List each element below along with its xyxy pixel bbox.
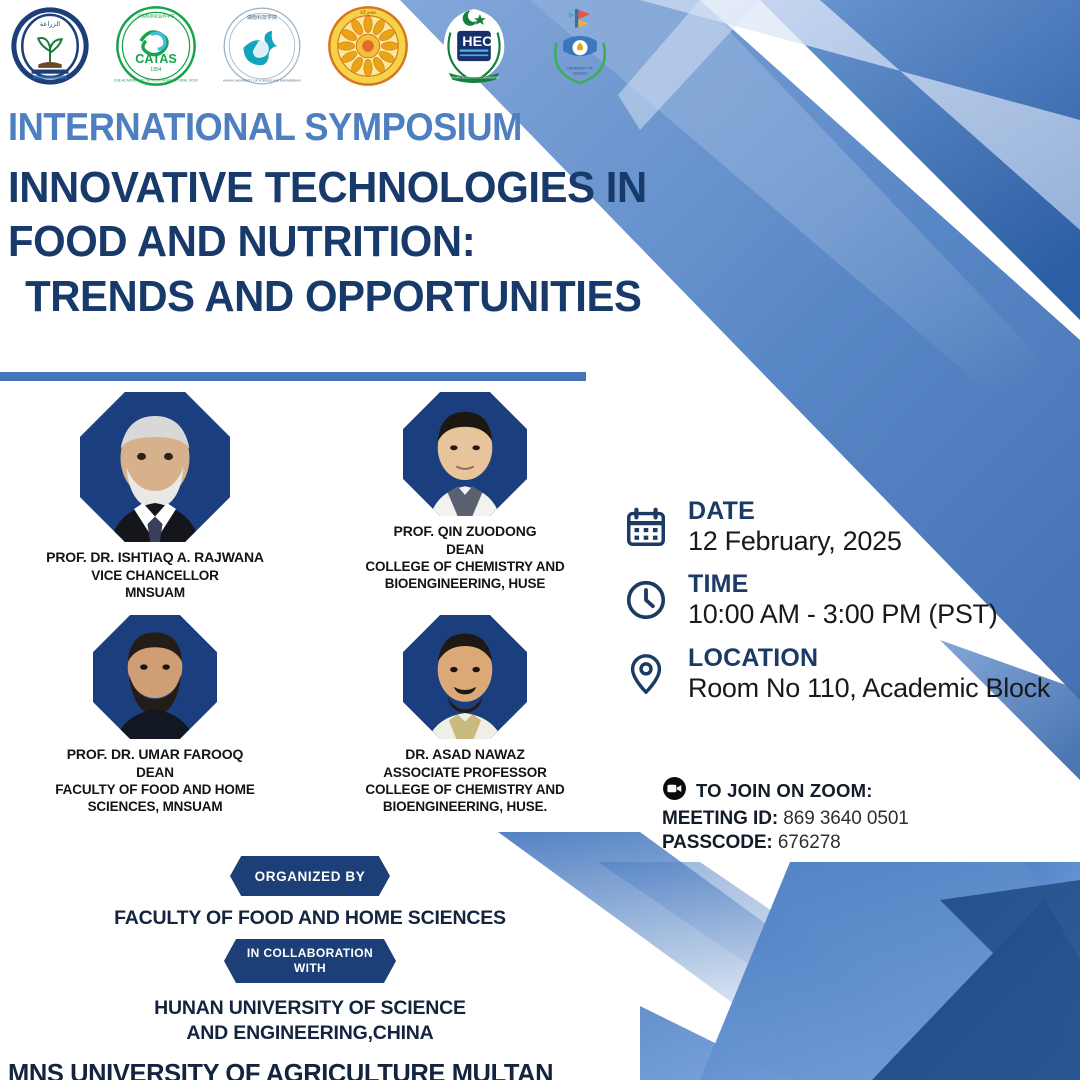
svg-text:湖南科技学院: 湖南科技学院: [247, 14, 277, 21]
speaker-role: DEAN: [55, 764, 254, 781]
zoom-heading: TO JOIN ON ZOOM:: [696, 780, 873, 802]
speaker-affiliation-2: SCIENCES, MNSUAM: [55, 798, 254, 815]
hec-pakistan-logo: HEC HIGHER EDUCATION COMMISSION: [432, 4, 516, 88]
date-label: DATE: [688, 498, 1080, 525]
speaker-name: PROF. DR. UMAR FAROOQ: [55, 746, 254, 764]
photo-ishtiaq-rajwana: [80, 392, 230, 542]
photo-qin-zuodong: [403, 392, 527, 516]
speaker-caption: PROF. QIN ZUODONG DEAN COLLEGE OF CHEMIS…: [365, 523, 564, 592]
speaker-caption: DR. ASAD NAWAZ ASSOCIATE PROFESSOR COLLE…: [365, 746, 564, 815]
speaker-name: PROF. DR. ISHTIAQ A. RAJWANA: [46, 549, 264, 567]
mns-university-of-agriculture-multan-logo: الزراعة: [8, 4, 92, 88]
host-university: MNS UNIVERSITY OF AGRICULTURE MULTAN: [0, 1060, 553, 1080]
speaker-caption: PROF. DR. UMAR FAROOQ DEAN FACULTY OF FO…: [55, 746, 254, 815]
svg-text:HUNAN UNIVERSITY OF SCIENCE AN: HUNAN UNIVERSITY OF SCIENCE AND ENGINEER…: [223, 78, 302, 82]
zoom-join-info: TO JOIN ON ZOOM: MEETING ID: 869 3640 05…: [662, 776, 1062, 854]
detail-time: TIME 10:00 AM - 3:00 PM (PST): [620, 571, 1080, 630]
organizer-name: FACULTY OF FOOD AND HOME SCIENCES: [114, 907, 506, 930]
collaborator-line-1: HUNAN UNIVERSITY OF SCIENCE: [154, 996, 466, 1021]
event-details: DATE 12 February, 2025 TIME 10:00 AM - 3…: [620, 498, 1080, 718]
speaker-name: DR. ASAD NAWAZ: [365, 746, 564, 764]
partner-university-logo: UNIVERSITY OF SCIENCE: [538, 4, 622, 88]
date-value: 12 February, 2025: [688, 526, 1080, 557]
clock-icon: [620, 571, 672, 623]
svg-text:1954: 1954: [150, 67, 161, 73]
location-label: LOCATION: [688, 645, 1080, 672]
catas-logo: CATAS 1954 中国热带农业科学院 CHINESE ACADEMY OF …: [114, 4, 198, 88]
title-line-3: TRENDS AND OPPORTUNITIES: [8, 270, 647, 325]
svg-text:CATAS: CATAS: [135, 52, 177, 66]
page-title: INNOVATIVE TECHNOLOGIES IN FOOD AND NUTR…: [8, 161, 647, 325]
speakers-row-1: PROF. DR. ISHTIAQ A. RAJWANA VICE CHANCE…: [0, 392, 620, 601]
svg-text:SCIENCE: SCIENCE: [573, 72, 589, 76]
svg-text:CHINESE ACADEMY OF TROPICAL AG: CHINESE ACADEMY OF TROPICAL AGRICULTURAL…: [114, 78, 198, 82]
speaker-name: PROF. QIN ZUODONG: [365, 523, 564, 541]
calendar-icon: [620, 498, 672, 550]
speaker-affiliation: MNSUAM: [46, 584, 264, 601]
sri-lanka-institute-logo: ම්රී ලංකා: [326, 4, 410, 88]
partner-logos: الزراعة CATAS 1954 中国热带农业科学院 CHINESE ACA…: [8, 4, 622, 88]
speaker-affiliation: COLLEGE OF CHEMISTRY AND: [365, 781, 564, 798]
passcode-label: PASSCODE:: [662, 832, 773, 853]
svg-text:中国热带农业科学院: 中国热带农业科学院: [137, 12, 176, 19]
speaker-role: VICE CHANCELLOR: [46, 567, 264, 584]
title-divider: [0, 372, 586, 381]
svg-text:HIGHER EDUCATION COMMISSION: HIGHER EDUCATION COMMISSION: [449, 76, 498, 80]
meeting-id-label: MEETING ID:: [662, 808, 778, 829]
passcode-value: 676278: [778, 832, 841, 853]
passcode-line: PASSCODE: 676278: [662, 832, 1062, 854]
symposium-kicker: INTERNATIONAL SYMPOSIUM: [8, 108, 633, 149]
speakers-row-2: PROF. DR. UMAR FAROOQ DEAN FACULTY OF FO…: [0, 615, 620, 815]
speaker-card: DR. ASAD NAWAZ ASSOCIATE PROFESSOR COLLE…: [310, 615, 620, 815]
event-poster: الزراعة CATAS 1954 中国热带农业科学院 CHINESE ACA…: [0, 0, 1080, 1080]
time-label: TIME: [688, 571, 1080, 598]
video-camera-icon: [662, 776, 687, 806]
collaborator-line-2: AND ENGINEERING,CHINA: [154, 1021, 466, 1046]
speaker-role: DEAN: [365, 541, 564, 558]
collaboration-ribbon-line-1: IN COLLABORATION: [247, 946, 373, 961]
speakers-section: PROF. DR. ISHTIAQ A. RAJWANA VICE CHANCE…: [0, 392, 620, 815]
meeting-id-line: MEETING ID: 869 3640 0501: [662, 808, 1062, 830]
speaker-caption: PROF. DR. ISHTIAQ A. RAJWANA VICE CHANCE…: [46, 549, 264, 601]
title-line-1: INNOVATIVE TECHNOLOGIES IN: [8, 161, 647, 216]
speaker-card: PROF. DR. UMAR FAROOQ DEAN FACULTY OF FO…: [0, 615, 310, 815]
svg-text:HEC: HEC: [462, 34, 492, 50]
speaker-affiliation: COLLEGE OF CHEMISTRY AND: [365, 558, 564, 575]
speaker-affiliation-2: BIOENGINEERING, HUSE.: [365, 798, 564, 815]
organized-by-ribbon: ORGANIZED BY: [230, 856, 390, 896]
photo-umar-farooq: [93, 615, 217, 739]
svg-text:الزراعة: الزراعة: [40, 20, 60, 28]
speaker-card: PROF. DR. ISHTIAQ A. RAJWANA VICE CHANCE…: [0, 392, 310, 601]
title-block: INTERNATIONAL SYMPOSIUM INNOVATIVE TECHN…: [8, 108, 680, 325]
time-value: 10:00 AM - 3:00 PM (PST): [688, 599, 1080, 630]
collaboration-ribbon-line-2: WITH: [294, 961, 326, 976]
svg-text:UNIVERSITY OF: UNIVERSITY OF: [567, 67, 593, 71]
map-pin-icon: [620, 645, 672, 697]
detail-date: DATE 12 February, 2025: [620, 498, 1080, 557]
speaker-affiliation-2: BIOENGINEERING, HUSE: [365, 575, 564, 592]
location-value: Room No 110, Academic Block: [688, 673, 1080, 704]
organizers-section: ORGANIZED BY FACULTY OF FOOD AND HOME SC…: [0, 856, 620, 1080]
speaker-role: ASSOCIATE PROFESSOR: [365, 764, 564, 781]
title-line-2: FOOD AND NUTRITION:: [8, 215, 647, 270]
speaker-card: PROF. QIN ZUODONG DEAN COLLEGE OF CHEMIS…: [310, 392, 620, 601]
collaboration-ribbon: IN COLLABORATION WITH: [224, 939, 396, 983]
collaborator-name: HUNAN UNIVERSITY OF SCIENCE AND ENGINEER…: [154, 996, 466, 1046]
photo-asad-nawaz: [403, 615, 527, 739]
meeting-id-value: 869 3640 0501: [783, 808, 909, 829]
speaker-affiliation: FACULTY OF FOOD AND HOME: [55, 781, 254, 798]
hunan-university-of-science-and-engineering-logo: 湖南科技学院 HUNAN UNIVERSITY OF SCIENCE AND E…: [220, 4, 304, 88]
detail-location: LOCATION Room No 110, Academic Block: [620, 645, 1080, 704]
